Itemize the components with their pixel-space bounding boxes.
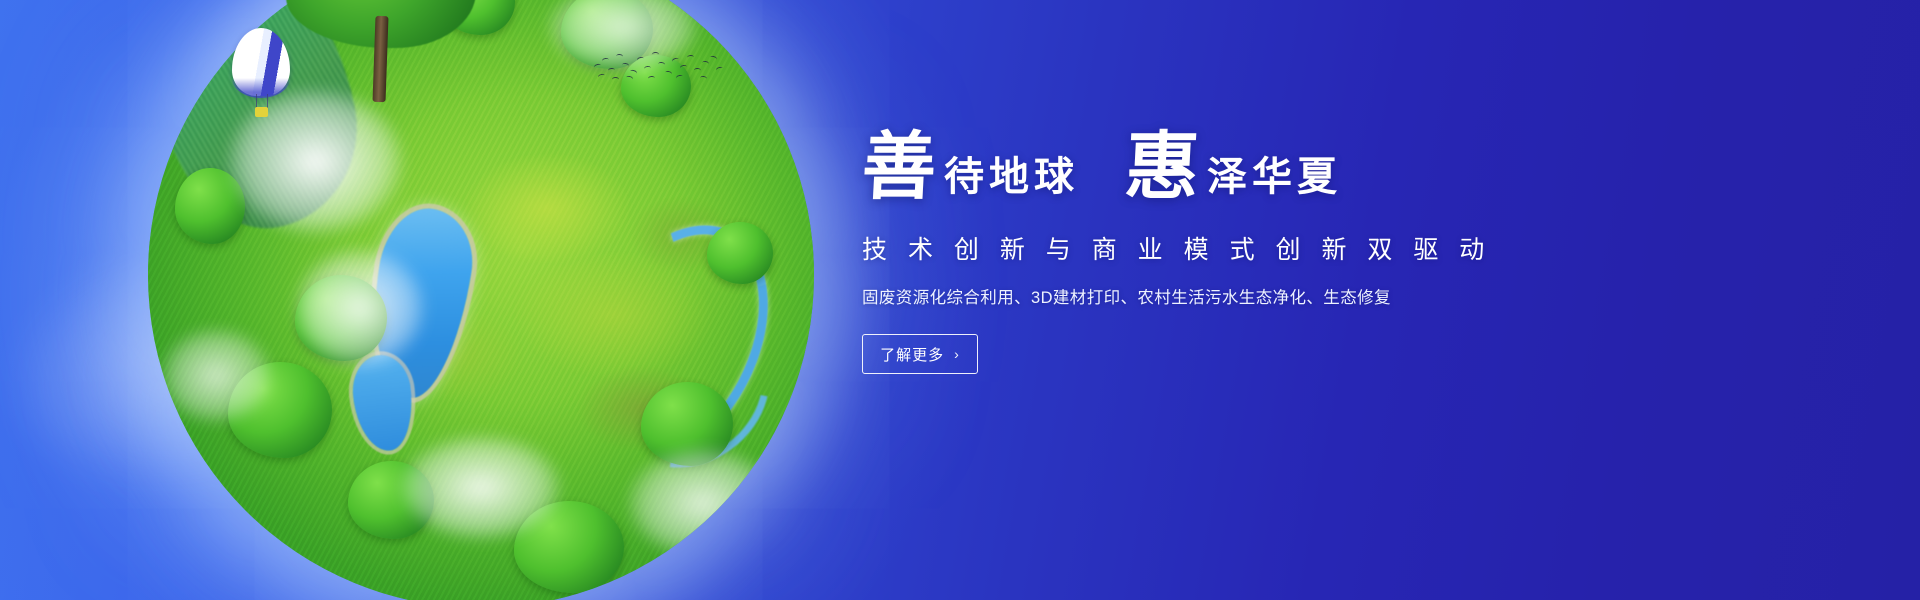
hero-banner: 善 待地球 惠 泽华夏 技 术 创 新 与 商 业 模 式 创 新 双 驱 动 … bbox=[0, 0, 1920, 600]
learn-more-label: 了解更多 bbox=[880, 344, 944, 365]
bird-icon bbox=[612, 77, 619, 82]
bird-icon bbox=[622, 62, 630, 68]
banner-subtitle: 技 术 创 新 与 商 业 模 式 创 新 双 驱 动 bbox=[862, 230, 1482, 266]
bird-icon bbox=[625, 75, 633, 82]
balloon-envelope bbox=[232, 28, 290, 96]
surface-cloud bbox=[295, 248, 425, 368]
bird-icon bbox=[702, 60, 710, 66]
chevron-right-icon: › bbox=[954, 347, 960, 361]
bird-icon bbox=[687, 55, 694, 61]
banner-description: 固废资源化综合利用、3D建材打印、农村生活污水生态净化、生态修复 bbox=[862, 284, 1482, 308]
bird-icon bbox=[652, 52, 659, 57]
headline-word-daidiqiu: 待地球 bbox=[944, 157, 1079, 197]
surface-cloud bbox=[401, 435, 561, 540]
hot-air-balloon-icon bbox=[232, 28, 290, 124]
page-title: 善 待地球 惠 泽华夏 bbox=[862, 120, 1482, 204]
headline-word-zehuaxia: 泽华夏 bbox=[1207, 157, 1342, 197]
banner-copy: 善 待地球 惠 泽华夏 技 术 创 新 与 商 业 模 式 创 新 双 驱 动 … bbox=[862, 120, 1482, 374]
bird-icon bbox=[608, 68, 615, 73]
bird-icon bbox=[680, 64, 688, 70]
headline-char-hui: 惠 bbox=[1123, 130, 1201, 204]
bird-icon bbox=[602, 57, 610, 63]
learn-more-button[interactable]: 了解更多 › bbox=[862, 334, 978, 374]
bird-icon bbox=[593, 63, 601, 70]
bird-icon bbox=[658, 62, 665, 68]
bird-icon bbox=[671, 57, 679, 64]
balloon-basket bbox=[255, 107, 268, 117]
bird-icon bbox=[629, 69, 637, 76]
balloon-lines bbox=[256, 94, 268, 108]
bird-icon bbox=[636, 56, 644, 63]
headline-char-shan: 善 bbox=[860, 130, 938, 204]
tree-blob bbox=[707, 222, 773, 284]
bird-icon bbox=[700, 76, 708, 82]
bird-icon bbox=[675, 74, 683, 81]
bird-icon bbox=[597, 73, 605, 80]
bird-icon bbox=[709, 55, 717, 62]
bird-icon bbox=[648, 76, 655, 81]
surface-cloud bbox=[628, 448, 778, 558]
bird-icon bbox=[665, 70, 673, 76]
surface-cloud bbox=[161, 328, 271, 423]
bird-icon bbox=[694, 68, 701, 73]
bird-flock-icon bbox=[592, 46, 722, 88]
bird-icon bbox=[616, 54, 623, 59]
bird-icon bbox=[644, 66, 652, 72]
